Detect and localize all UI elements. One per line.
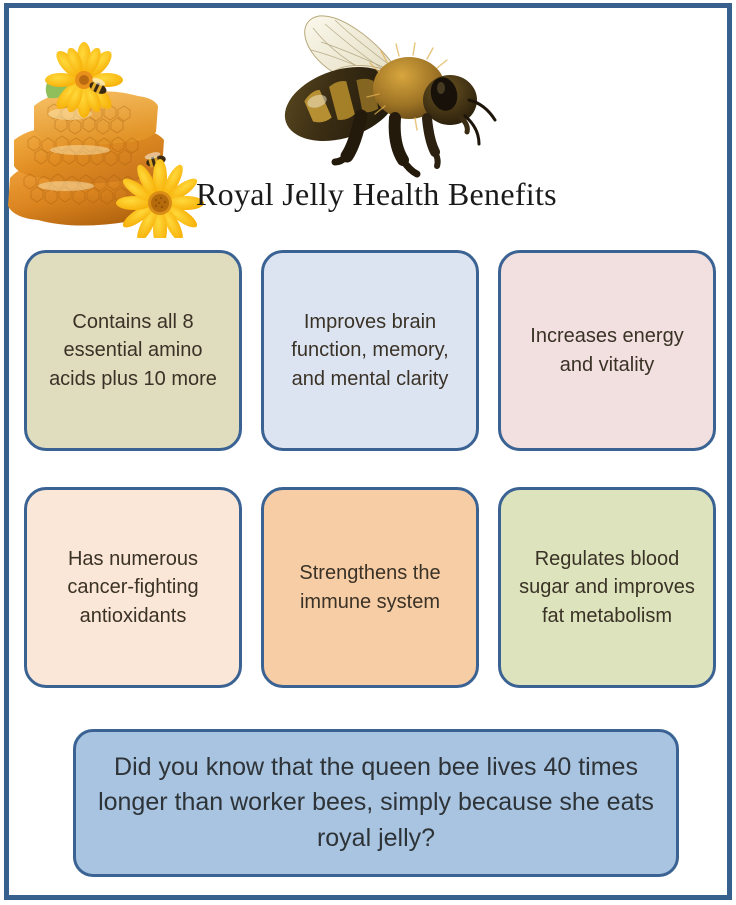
- benefit-text-3: Increases energy and vitality: [515, 322, 699, 379]
- benefit-text-6: Regulates blood sugar and improves fat m…: [515, 545, 699, 630]
- benefits-grid: Contains all 8 essential amino acids plu…: [24, 250, 714, 688]
- benefit-box-5[interactable]: Strengthens the immune system: [261, 487, 479, 688]
- did-you-know-banner[interactable]: Did you know that the queen bee lives 40…: [73, 729, 679, 877]
- infographic-page: Royal Jelly Health Benefits Contains all…: [0, 0, 736, 905]
- benefit-box-4[interactable]: Has numerous cancer-fighting antioxidant…: [24, 487, 242, 688]
- benefit-text-1: Contains all 8 essential amino acids plu…: [41, 308, 225, 393]
- benefit-text-4: Has numerous cancer-fighting antioxidant…: [41, 545, 225, 630]
- benefit-box-1[interactable]: Contains all 8 essential amino acids plu…: [24, 250, 242, 451]
- benefit-box-3[interactable]: Increases energy and vitality: [498, 250, 716, 451]
- header: Royal Jelly Health Benefits: [0, 0, 736, 240]
- benefit-text-2: Improves brain function, memory, and men…: [278, 308, 462, 393]
- page-title: Royal Jelly Health Benefits: [196, 176, 596, 213]
- benefit-box-2[interactable]: Improves brain function, memory, and men…: [261, 250, 479, 451]
- did-you-know-text: Did you know that the queen bee lives 40…: [76, 750, 676, 857]
- benefit-text-5: Strengthens the immune system: [278, 559, 462, 616]
- honeycomb-image: [8, 28, 208, 238]
- bee-icon: [245, 12, 500, 192]
- benefit-box-6[interactable]: Regulates blood sugar and improves fat m…: [498, 487, 716, 688]
